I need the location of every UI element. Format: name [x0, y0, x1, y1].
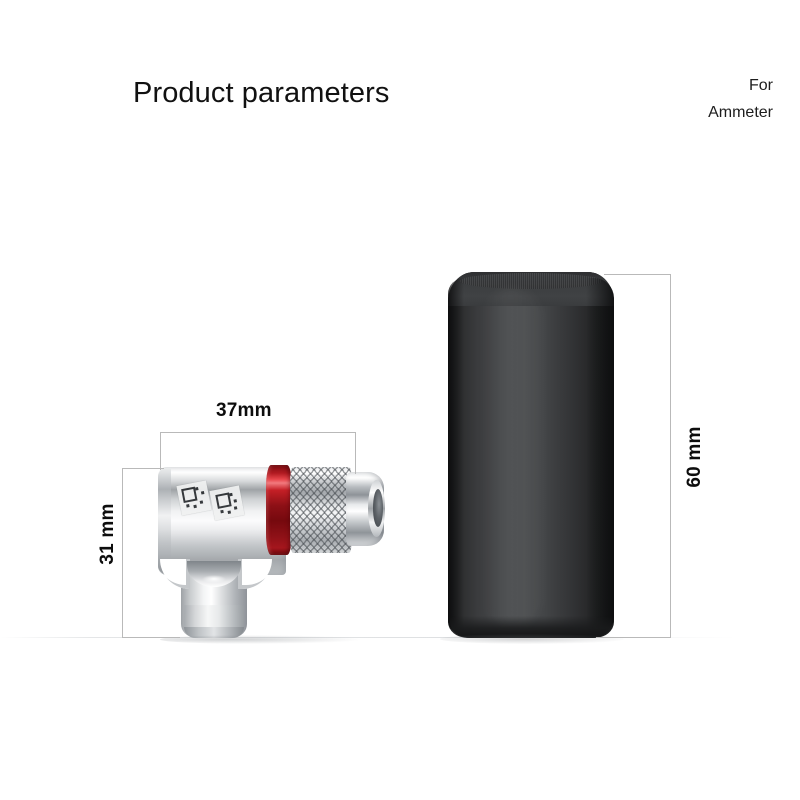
dim-31mm-top-tick	[122, 468, 164, 469]
dim-60mm-top-tick	[604, 274, 671, 275]
cylinder-top-texture	[460, 273, 602, 289]
corner-note: For Ammeter	[593, 72, 773, 126]
cylinder-sheen	[480, 288, 544, 628]
dim-31mm-bottom-tick	[122, 637, 180, 638]
ground-line	[0, 637, 800, 638]
cylinder-left-edge	[448, 278, 464, 633]
black-cylinder-shadow	[440, 634, 624, 644]
qr-code-sticker-1	[176, 480, 211, 515]
corner-note-line1: For	[593, 72, 773, 99]
dim-37mm-top-line	[160, 432, 356, 433]
black-cylinder-image	[446, 268, 618, 643]
dim-31mm-left-line	[122, 468, 123, 638]
dim-37mm-right-tick	[355, 432, 356, 474]
nozzle-bore	[373, 489, 383, 527]
red-anodized-ring	[266, 465, 292, 555]
stem-highlight	[202, 575, 226, 583]
product-parameters-canvas: Product parameters For Ammeter	[0, 0, 800, 800]
dim-31mm-label: 31 mm	[97, 494, 119, 574]
page-title: Product parameters	[133, 77, 389, 110]
corner-note-line2: Ammeter	[593, 99, 773, 126]
stem-fillet-left	[160, 559, 190, 589]
silver-connector-shadow	[160, 635, 360, 644]
dim-37mm-label: 37mm	[216, 400, 272, 422]
dim-37mm-left-tick	[160, 432, 161, 470]
knurled-grip	[290, 467, 352, 553]
dim-60mm-label: 60 mm	[684, 417, 706, 497]
qr-code-sticker-2	[209, 485, 244, 520]
dim-60mm-right-line	[670, 274, 671, 638]
cylinder-right-edge	[586, 278, 614, 633]
stem-fillet-right	[238, 559, 272, 589]
dim-60mm-bottom-tick	[596, 637, 671, 638]
silver-connector-image	[140, 455, 385, 650]
